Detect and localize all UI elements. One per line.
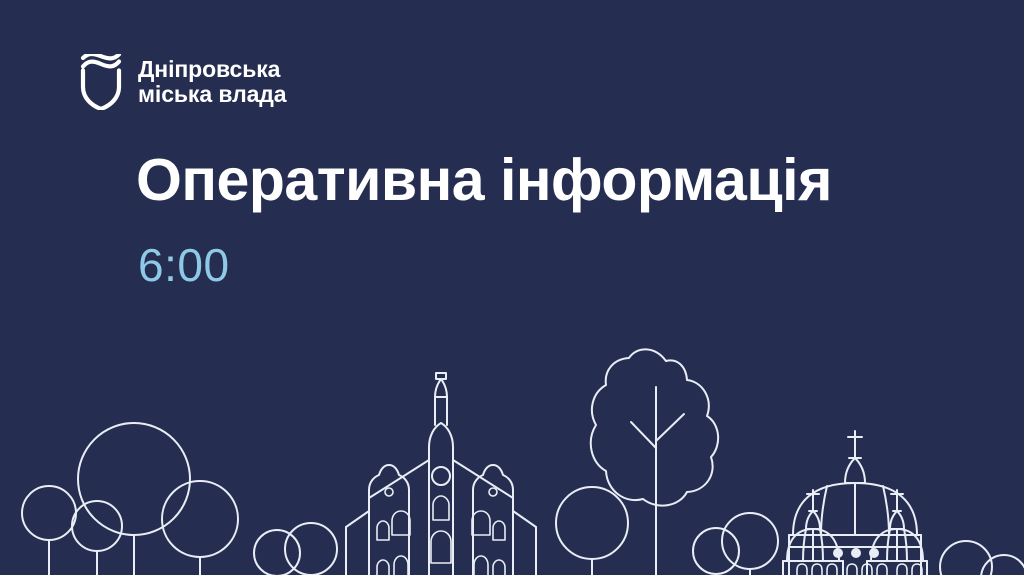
update-time-label: 6:00 <box>138 238 230 292</box>
historic-building <box>346 373 536 575</box>
tree-small-right-1 <box>693 528 739 575</box>
tree-large-left <box>78 423 190 575</box>
tree-round-left-mid <box>162 481 238 575</box>
tree-small-left-2 <box>72 501 122 575</box>
tree-small-mid-2 <box>285 523 337 575</box>
brand-wordmark-line2: міська влада <box>138 82 286 107</box>
brand-logo-lockup[interactable]: Дніпровська міська влада <box>78 54 286 110</box>
brand-wordmark: Дніпровська міська влада <box>138 57 286 107</box>
shield-wave-icon <box>78 54 124 110</box>
brand-wordmark-line1: Дніпровська <box>138 57 286 82</box>
cathedral <box>769 431 941 575</box>
tree-small-right-2 <box>722 513 778 575</box>
tree-small-left-1 <box>22 486 76 575</box>
tree-round-right-mid <box>556 487 628 575</box>
poster-canvas: Дніпровська міська влада Оперативна інфо… <box>0 0 1024 575</box>
tree-tall-center <box>591 349 718 575</box>
tree-far-right-2 <box>981 555 1024 575</box>
dnipro-city-skyline-illustration <box>0 335 1024 575</box>
page-title: Оперативна інформація <box>136 146 832 214</box>
tree-far-right-1 <box>940 541 992 575</box>
